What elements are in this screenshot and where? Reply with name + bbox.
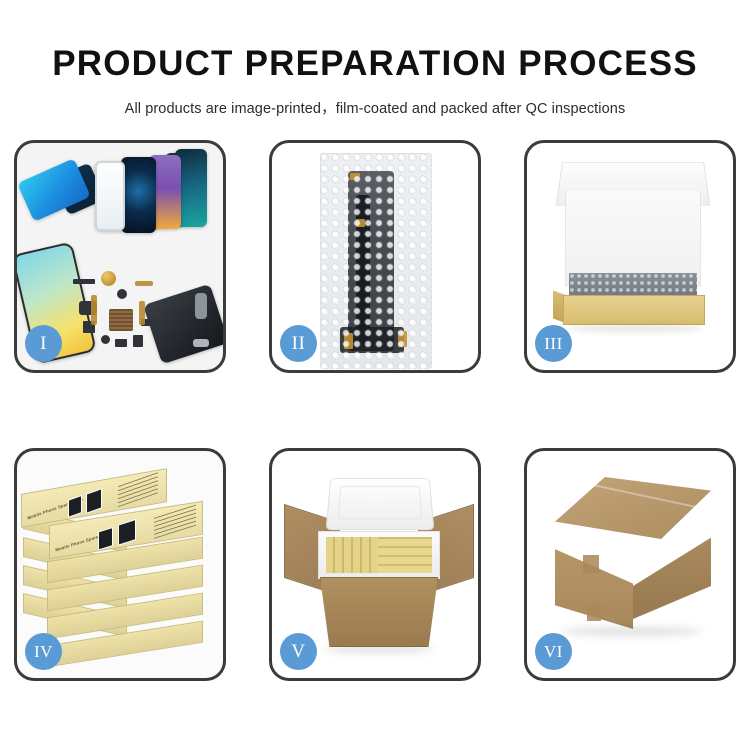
- box-product-photo: [86, 488, 102, 514]
- box-shadow: [567, 325, 703, 332]
- tape-icon: [350, 173, 360, 180]
- tempered-glass-icon: [95, 161, 125, 231]
- step-badge-5: V: [280, 633, 317, 670]
- tool-icon: [193, 339, 209, 347]
- wrapped-part-core-icon: [356, 195, 370, 345]
- process-step-panel-5: V: [269, 448, 481, 681]
- box-spec-lines: [154, 504, 196, 539]
- box-product-photo: [98, 527, 113, 551]
- page-subtitle: All products are image-printed，film-coat…: [0, 81, 750, 118]
- small-part-icon: [133, 335, 143, 347]
- small-part-icon: [115, 339, 127, 347]
- process-step-panel-6: VI: [524, 448, 736, 681]
- carton-top-face-icon: [555, 477, 711, 539]
- yellow-boxes-row-icon: [378, 537, 432, 573]
- carton-front-panel-icon: [320, 577, 438, 647]
- process-step-panel-2: II: [269, 140, 481, 373]
- process-step-grid: I II: [14, 140, 736, 680]
- process-step-panel-3: III: [524, 140, 736, 373]
- process-step-panel-1: I: [14, 140, 226, 373]
- small-part-icon: [73, 279, 95, 284]
- tape-patch-icon: [587, 605, 601, 621]
- page-title: PRODUCT PREPARATION PROCESS: [0, 0, 750, 81]
- carton-shadow: [561, 627, 703, 636]
- step-badge-3: III: [535, 325, 572, 362]
- small-part-icon: [101, 335, 110, 344]
- wrapped-part-icon: [348, 171, 394, 351]
- header: PRODUCT PREPARATION PROCESS All products…: [0, 0, 750, 118]
- step-badge-4: IV: [25, 633, 62, 670]
- product-preparation-infographic: PRODUCT PREPARATION PROCESS All products…: [0, 0, 750, 750]
- tape-icon: [344, 333, 353, 349]
- flex-cable-icon: [91, 295, 97, 325]
- process-step-panel-4: Mobile Phone Spare Parts Mobile Phone Sp…: [14, 448, 226, 681]
- box-product-photo: [68, 495, 82, 518]
- step-badge-1: I: [25, 325, 62, 362]
- tape-icon: [356, 219, 365, 227]
- flex-cable-icon: [139, 301, 145, 325]
- box-product-photo: [118, 519, 136, 546]
- box-front-panel-icon: [563, 295, 705, 325]
- logic-board-icon: [109, 309, 133, 331]
- screwdriver-icon: [195, 293, 207, 319]
- step-badge-2: II: [280, 325, 317, 362]
- box-spec-lines: [118, 471, 158, 507]
- flex-cable-icon: [135, 281, 153, 286]
- phone-display-icon: [121, 157, 156, 233]
- foam-lid-icon: [326, 478, 435, 530]
- speaker-part-icon: [101, 271, 116, 286]
- step-badge-6: VI: [535, 633, 572, 670]
- tape-patch-icon: [583, 555, 599, 573]
- small-part-icon: [117, 289, 127, 299]
- tape-icon: [398, 331, 407, 347]
- phone-back-housing-icon: [143, 284, 226, 365]
